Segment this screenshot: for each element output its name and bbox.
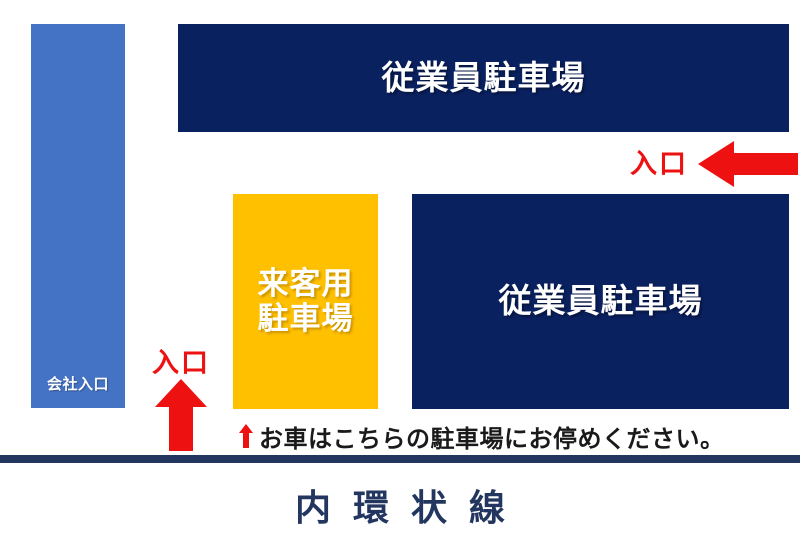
employee-parking-right-label: 従業員駐車場 (499, 283, 703, 320)
parking-instruction-text: お車はこちらの駐車場にお停めください。 (259, 419, 725, 454)
company-entrance-block: 会社入口 (31, 24, 125, 408)
arrow-up-icon (155, 379, 207, 451)
entrance-right-label: 入口 (630, 151, 688, 178)
parking-instruction-caption: お車はこちらの駐車場にお停めください。 (239, 418, 725, 454)
entrance-marker-bottom-left: 入口 (146, 350, 216, 462)
arrow-left-icon (698, 141, 798, 187)
employee-parking-right-block: 従業員駐車場 (412, 194, 789, 409)
entrance-marker-right: 入口 (630, 138, 800, 190)
visitor-parking-block: 来客用 駐車場 (233, 194, 378, 409)
road-name-label: 内環状線 (0, 479, 800, 531)
company-entrance-label: 会社入口 (31, 373, 125, 394)
road-line (0, 455, 800, 463)
visitor-parking-label: 来客用 駐車場 (258, 267, 354, 336)
employee-parking-top-label: 従業員駐車場 (382, 60, 586, 97)
parking-lot-map: 会社入口 従業員駐車場 来客用 駐車場 従業員駐車場 入口 入口 お車はこちらの… (0, 0, 800, 554)
entrance-bottom-left-label: 入口 (152, 350, 210, 377)
employee-parking-top-block: 従業員駐車場 (178, 24, 789, 132)
arrow-up-small-icon (239, 424, 253, 448)
